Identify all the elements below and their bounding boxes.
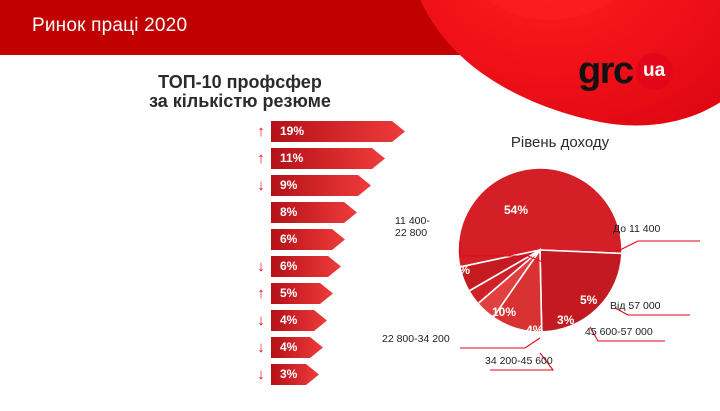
pie-category-label: 11 400- 22 800 <box>395 215 465 239</box>
bar-value-label: 4% <box>280 310 297 331</box>
trend-down-icon: ↓ <box>254 178 268 193</box>
trend-down-icon: ↓ <box>254 367 268 382</box>
bar-row: Початок кар'єри, студенти↑19% <box>0 119 420 144</box>
pie-percent-label: 54% <box>504 203 528 217</box>
pie-category-label: 45 600-57 000 <box>585 326 695 338</box>
infographic-canvas: Ринок праці 2020 grc ua ТОП-10 профсфер … <box>0 0 720 411</box>
bar-row: Вищий менеджмент↓4% <box>0 335 420 360</box>
bar-row: Інформаційні технології, інтернет, телек… <box>0 173 420 198</box>
pie-percent-label: 5% <box>580 293 597 307</box>
pie-percent-label: 3% <box>557 313 574 327</box>
bar-title-line-1: ТОП-10 профсфер <box>110 73 370 92</box>
bar-value-label: 6% <box>280 229 297 250</box>
pie-slice <box>540 250 622 332</box>
trend-up-icon: ↑ <box>254 151 268 166</box>
pie-category-label: Від 57 000 <box>610 300 700 312</box>
trend-up-icon: ↑ <box>254 124 268 139</box>
bar-row: Адміністративний персонал8% <box>0 200 420 225</box>
bar-value-label: 3% <box>280 364 297 385</box>
pie-category-label: 22 800-34 200 <box>382 333 468 345</box>
logo[interactable]: grc ua <box>578 52 673 90</box>
logo-badge: ua <box>636 53 673 90</box>
bar-row: Мистецтво, розваги, мас-медіа↓3% <box>0 362 420 387</box>
page-title: Ринок праці 2020 <box>32 15 187 37</box>
bar-value-label: 8% <box>280 202 297 223</box>
bar-row: Бухгалтерія, управлінський облік, фінанс… <box>0 227 420 252</box>
bar-row: Виробництво, сільське господарство↓4% <box>0 308 420 333</box>
bar-value-label: 4% <box>280 337 297 358</box>
bar-title-line-2: за кількістю резюме <box>110 92 370 111</box>
trend-up-icon: ↑ <box>254 286 268 301</box>
bar-value-label: 11% <box>280 148 303 169</box>
pie-percent-label: 10% <box>492 305 516 319</box>
trend-down-icon: ↓ <box>254 313 268 328</box>
bar-value-label: 5% <box>280 283 297 304</box>
bar-chart: Початок кар'єри, студенти↑19%Продажі↑11%… <box>0 119 420 389</box>
pie-chart-title: Рівень доходу <box>430 134 690 151</box>
trend-down-icon: ↓ <box>254 340 268 355</box>
logo-text: grc <box>578 52 633 90</box>
pie-chart: 54%24%10%4%3%5% До 11 40011 400- 22 8002… <box>400 155 720 380</box>
pie-category-label: 34 200-45 600 <box>485 355 605 367</box>
bar-row: Маркетинг, реклама, PR↓6% <box>0 254 420 279</box>
bar-value-label: 9% <box>280 175 297 196</box>
pie-category-label: До 11 400 <box>613 223 720 235</box>
bar-row: Транспорт, логістика↑5% <box>0 281 420 306</box>
trend-down-icon: ↓ <box>254 259 268 274</box>
bar-chart-title: ТОП-10 профсфер за кількістю резюме <box>110 73 370 111</box>
bar-value-label: 6% <box>280 256 297 277</box>
pie-percent-label: 24% <box>446 263 470 277</box>
pie-percent-label: 4% <box>526 323 543 337</box>
bar-value-label: 19% <box>280 121 304 142</box>
bar-row: Продажі↑11% <box>0 146 420 171</box>
